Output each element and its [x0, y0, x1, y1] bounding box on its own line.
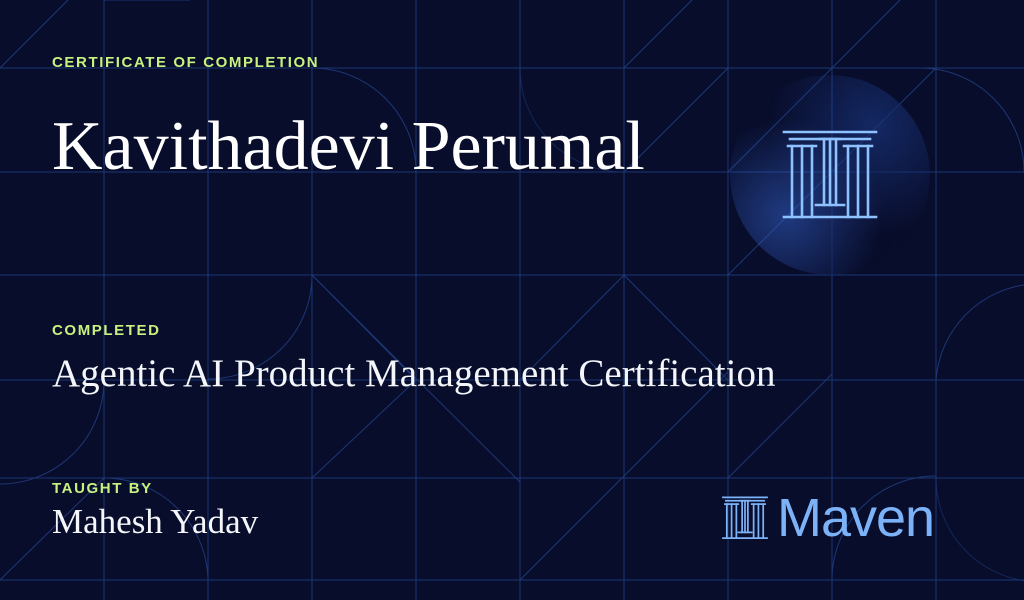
instructor-name: Mahesh Yadav: [52, 502, 258, 542]
taught-by-label: TAUGHT BY: [52, 480, 153, 497]
maven-seal-badge: [730, 75, 930, 275]
maven-logo[interactable]: Maven: [722, 490, 934, 546]
certificate-card: CERTIFICATE OF COMPLETION Kavithadevi Pe…: [0, 0, 1024, 600]
maven-wordmark: Maven: [777, 491, 934, 545]
maven-columns-badge-icon: [782, 125, 878, 225]
maven-columns-icon: [722, 490, 768, 546]
course-title: Agentic AI Product Management Certificat…: [52, 352, 775, 397]
recipient-name: Kavithadevi Perumal: [52, 112, 645, 182]
certificate-of-completion-label: CERTIFICATE OF COMPLETION: [52, 54, 319, 71]
completed-label: COMPLETED: [52, 322, 161, 339]
